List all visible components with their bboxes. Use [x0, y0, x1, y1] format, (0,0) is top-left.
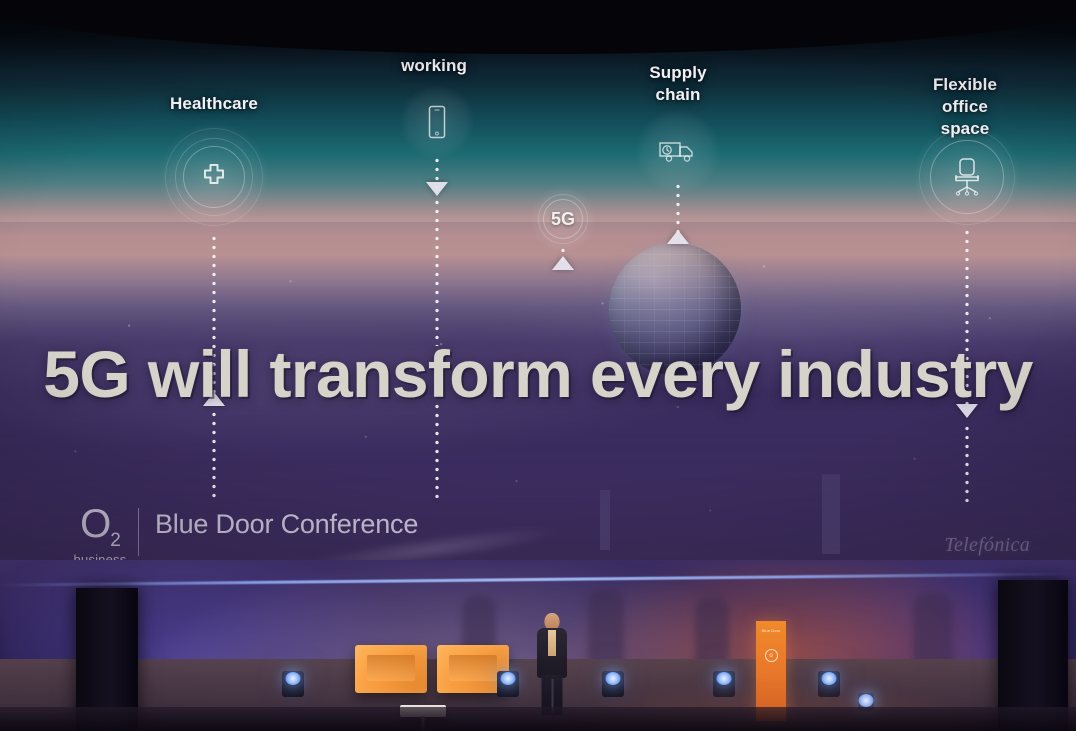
stage-area: Blue Door o: [0, 560, 1076, 731]
mobile-phone-icon: [427, 105, 447, 139]
slide-headline: 5G will transform every industry: [38, 336, 1038, 412]
icon-ring-healthcare[interactable]: [159, 122, 269, 232]
projection-screen: Healthcare Remote working: [0, 0, 1076, 592]
delivery-truck-icon: [658, 139, 698, 165]
skyscraper-right: [822, 474, 840, 554]
connector-line-flexible-office-lower: [965, 424, 969, 502]
arrow-up-5g-badge: [552, 256, 574, 270]
skyscraper-center: [600, 490, 610, 550]
banner-logo-mark: o: [765, 649, 778, 662]
badge-label-5g: 5G: [551, 209, 575, 230]
arrow-up-supply-chain: [667, 230, 689, 244]
icon-ring-flexible-office[interactable]: [913, 123, 1021, 231]
node-label-supply-chain: Supply chain: [649, 62, 706, 106]
o2-logo: O2 business: [72, 506, 128, 567]
icon-ring-remote-working[interactable]: [400, 85, 474, 159]
banner-top-text: Blue Door: [762, 628, 781, 633]
conference-title: Blue Door Conference: [155, 511, 418, 538]
arrow-down-remote-working: [426, 182, 448, 196]
connector-line-healthcare-lower: [212, 410, 216, 500]
brand-divider: [138, 508, 139, 556]
connector-line-remote-lower: [435, 402, 439, 498]
icon-ring-supply-chain[interactable]: [636, 110, 720, 194]
stage-front-edge: [0, 707, 1076, 731]
o2-letter-o: O: [80, 502, 110, 546]
telefonica-logo: Telefónica: [944, 534, 1030, 557]
slide-branding: O2 business Blue Door Conference: [72, 506, 418, 567]
conference-stage-photo: Healthcare Remote working: [0, 0, 1076, 731]
presenter-shirt: [548, 630, 556, 656]
connector-line-remote-working: [435, 198, 439, 346]
node-label-healthcare: Healthcare: [170, 93, 258, 115]
o2-logo-letter: O2: [72, 506, 128, 549]
icon-ring-5g[interactable]: 5G: [530, 186, 596, 252]
office-chair-icon: [948, 157, 986, 197]
medical-cross-icon: [199, 162, 229, 192]
